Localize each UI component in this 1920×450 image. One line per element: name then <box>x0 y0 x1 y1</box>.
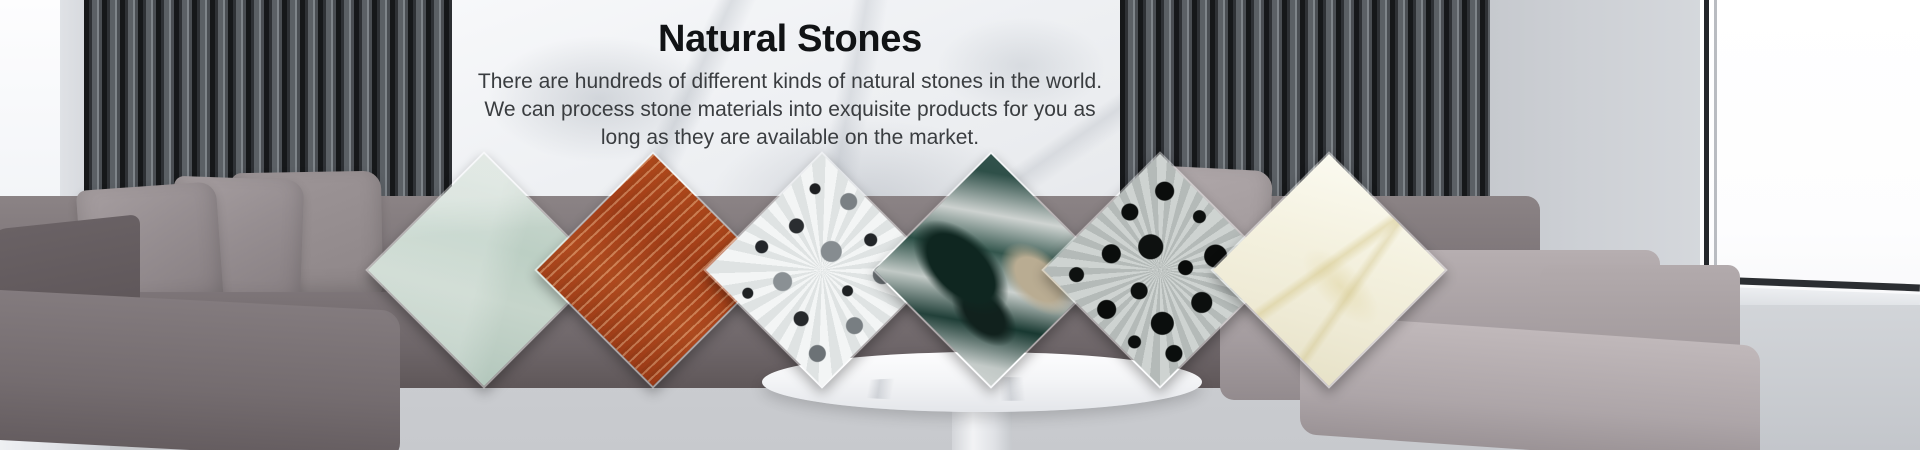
banner-description: There are hundreds of different kinds of… <box>460 68 1120 152</box>
window-frame-bar-secondary <box>1714 0 1717 300</box>
window-frame-bar <box>1704 0 1709 300</box>
page-title: Natural Stones <box>460 18 1120 62</box>
banner-description-line: We can process stone materials into exqu… <box>460 96 1120 124</box>
banner-text-block: Natural Stones There are hundreds of dif… <box>460 18 1120 151</box>
banner-description-line: long as they are available on the market… <box>460 124 1120 152</box>
banner-description-line: There are hundreds of different kinds of… <box>460 68 1120 96</box>
sofa-chaise <box>0 289 400 450</box>
natural-stones-banner: Natural Stones There are hundreds of dif… <box>0 0 1920 450</box>
